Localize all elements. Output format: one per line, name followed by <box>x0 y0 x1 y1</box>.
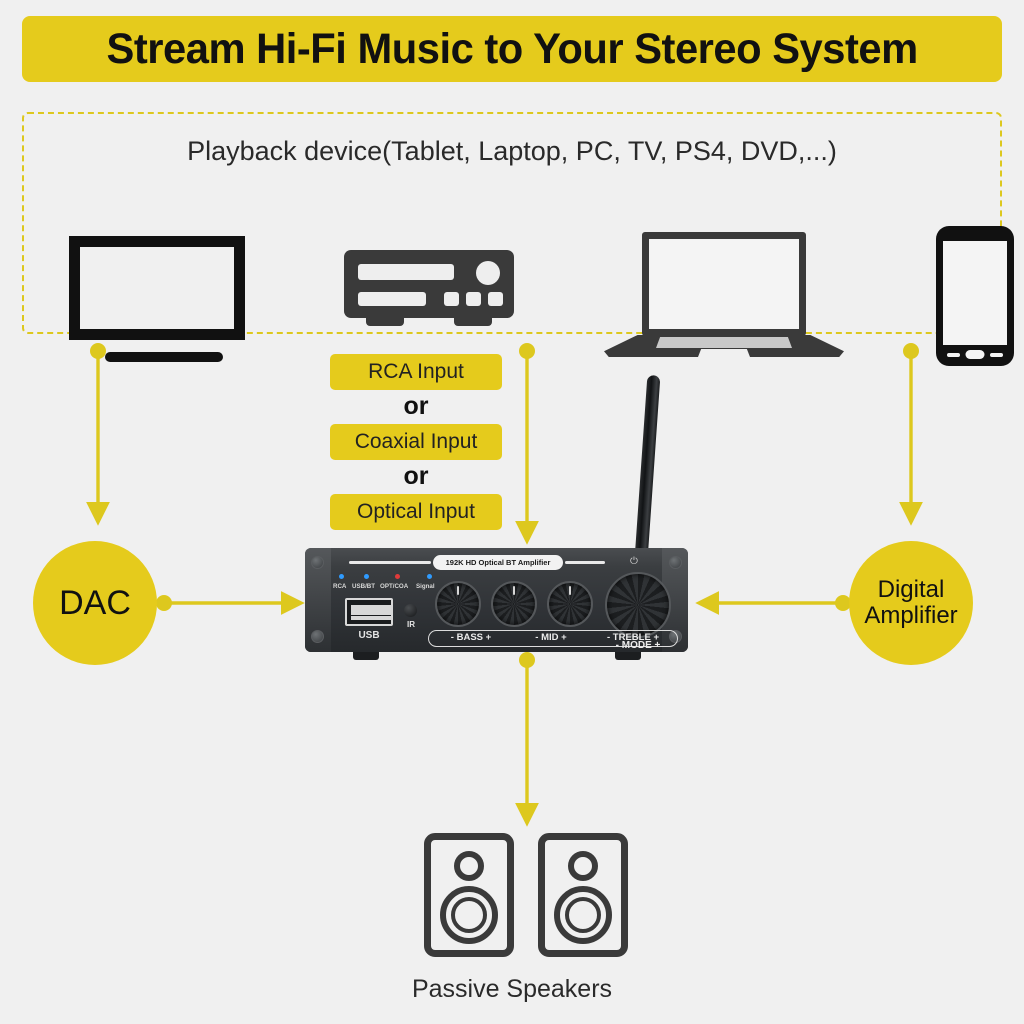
digital-amplifier-line1: Digital <box>878 576 945 603</box>
arrow-playback-to-dac <box>90 343 106 521</box>
dvd-disc-slot <box>358 264 454 280</box>
tv-icon <box>69 236 259 366</box>
playback-device-group: Playback device(Tablet, Laptop, PC, TV, … <box>22 112 1002 334</box>
dvd-button <box>444 292 459 306</box>
led-signal-label: Signal <box>416 583 435 590</box>
arrow-playback-to-inputs <box>519 343 535 540</box>
knob-tick <box>513 586 515 595</box>
dvd-player-icon <box>344 250 514 335</box>
panel-stripe-right <box>565 561 605 564</box>
playback-group-caption: Playback device(Tablet, Laptop, PC, TV, … <box>24 136 1000 167</box>
or-separator-1: or <box>330 392 502 421</box>
usb-port-inner <box>351 605 391 615</box>
screw <box>311 556 324 569</box>
speaker-woofer <box>554 886 612 944</box>
led-opt-coa <box>395 574 400 579</box>
led-indicator-group: RCA USB/BT OPT/COA Signal <box>333 574 445 600</box>
knob-tick <box>457 586 459 595</box>
dvd-dial <box>476 261 500 285</box>
speaker-tweeter <box>568 851 598 881</box>
tv-screen <box>69 236 245 340</box>
bluetooth-antenna <box>635 363 650 553</box>
input-option-rca-label: RCA Input <box>368 360 464 384</box>
laptop-icon <box>604 232 844 367</box>
amplifier-foot <box>615 652 641 660</box>
node-dac: DAC <box>33 541 157 665</box>
infographic-canvas: Stream Hi-Fi Music to Your Stereo System… <box>0 0 1024 1024</box>
bass-control-label: - BASS + <box>428 632 514 643</box>
bass-knob[interactable] <box>435 581 481 627</box>
input-option-optical[interactable]: Optical Input <box>330 494 502 530</box>
laptop-base <box>604 335 844 361</box>
screw <box>311 630 324 643</box>
arrow-dac-to-device <box>156 595 300 611</box>
speaker-left <box>424 833 514 957</box>
passive-speakers-icon <box>424 833 632 957</box>
led-rca <box>339 574 344 579</box>
power-icon: ⏻ <box>630 556 638 567</box>
mode-volume-knob[interactable] <box>605 572 671 638</box>
input-option-rca[interactable]: RCA Input <box>330 354 502 390</box>
led-usb-bt-label: USB/BT <box>352 583 375 590</box>
usb-port-inner-bottom <box>351 616 391 620</box>
amplifier-front-panel: 192K HD Optical BT Amplifier ⏻ RCA USB/B… <box>305 548 688 652</box>
mode-control-label: - MODE + <box>601 640 675 651</box>
phone-body <box>936 226 1014 366</box>
speaker-woofer-inner <box>565 897 601 933</box>
tv-stand <box>105 352 223 362</box>
arrow-playback-to-digital-amplifier <box>903 343 919 521</box>
node-digital-amplifier-label: Digital Amplifier <box>864 577 957 629</box>
arrow-digital-amplifier-to-device <box>700 595 851 611</box>
speaker-tweeter <box>454 851 484 881</box>
laptop-screen <box>642 232 806 336</box>
phone-speaker-bar <box>990 353 1003 357</box>
laptop-keyboard <box>656 337 792 348</box>
smartphone-icon <box>936 226 1014 366</box>
antenna-rod <box>635 375 660 553</box>
node-digital-amplifier: Digital Amplifier <box>849 541 973 665</box>
amplifier-foot <box>353 652 379 660</box>
speaker-woofer-inner <box>451 897 487 933</box>
node-dac-label: DAC <box>59 585 131 622</box>
digital-amplifier-line2: Amplifier <box>864 602 957 629</box>
phone-speaker-bar <box>947 353 960 357</box>
phone-screen <box>943 241 1007 345</box>
panel-stripe-left <box>349 561 431 564</box>
speaker-woofer <box>440 886 498 944</box>
dvd-button <box>466 292 481 306</box>
phone-home-button <box>966 350 985 359</box>
arrow-device-to-speakers <box>519 652 535 822</box>
input-option-coaxial[interactable]: Coaxial Input <box>330 424 502 460</box>
mid-control-label: - MID + <box>514 632 588 643</box>
usb-port[interactable] <box>345 598 393 626</box>
mid-knob[interactable] <box>491 581 537 627</box>
speaker-right <box>538 833 628 957</box>
dvd-button <box>488 292 503 306</box>
treble-knob[interactable] <box>547 581 593 627</box>
dvd-body <box>344 250 514 318</box>
usb-label: USB <box>343 630 395 641</box>
amplifier-model-label: 192K HD Optical BT Amplifier <box>433 555 563 570</box>
amplifier-device: 192K HD Optical BT Amplifier ⏻ RCA USB/B… <box>305 548 688 652</box>
dvd-foot <box>454 318 492 326</box>
or-separator-2: or <box>330 462 502 491</box>
led-signal <box>427 574 432 579</box>
page-title: Stream Hi-Fi Music to Your Stereo System <box>106 25 917 74</box>
screw <box>669 556 682 569</box>
device-icon-row <box>24 174 1000 334</box>
laptop-trackpad <box>698 349 750 357</box>
input-option-optical-label: Optical Input <box>357 500 475 524</box>
input-option-coaxial-label: Coaxial Input <box>355 430 478 454</box>
ir-label: IR <box>398 620 424 629</box>
dvd-display <box>358 292 426 306</box>
led-opt-coa-label: OPT/COA <box>380 583 408 590</box>
knob-tick <box>569 586 571 595</box>
led-rca-label: RCA <box>333 583 346 590</box>
dvd-foot <box>366 318 404 326</box>
title-banner: Stream Hi-Fi Music to Your Stereo System <box>22 16 1002 82</box>
speakers-caption: Passive Speakers <box>0 975 1024 1004</box>
ir-sensor <box>404 604 417 617</box>
led-usb-bt <box>364 574 369 579</box>
